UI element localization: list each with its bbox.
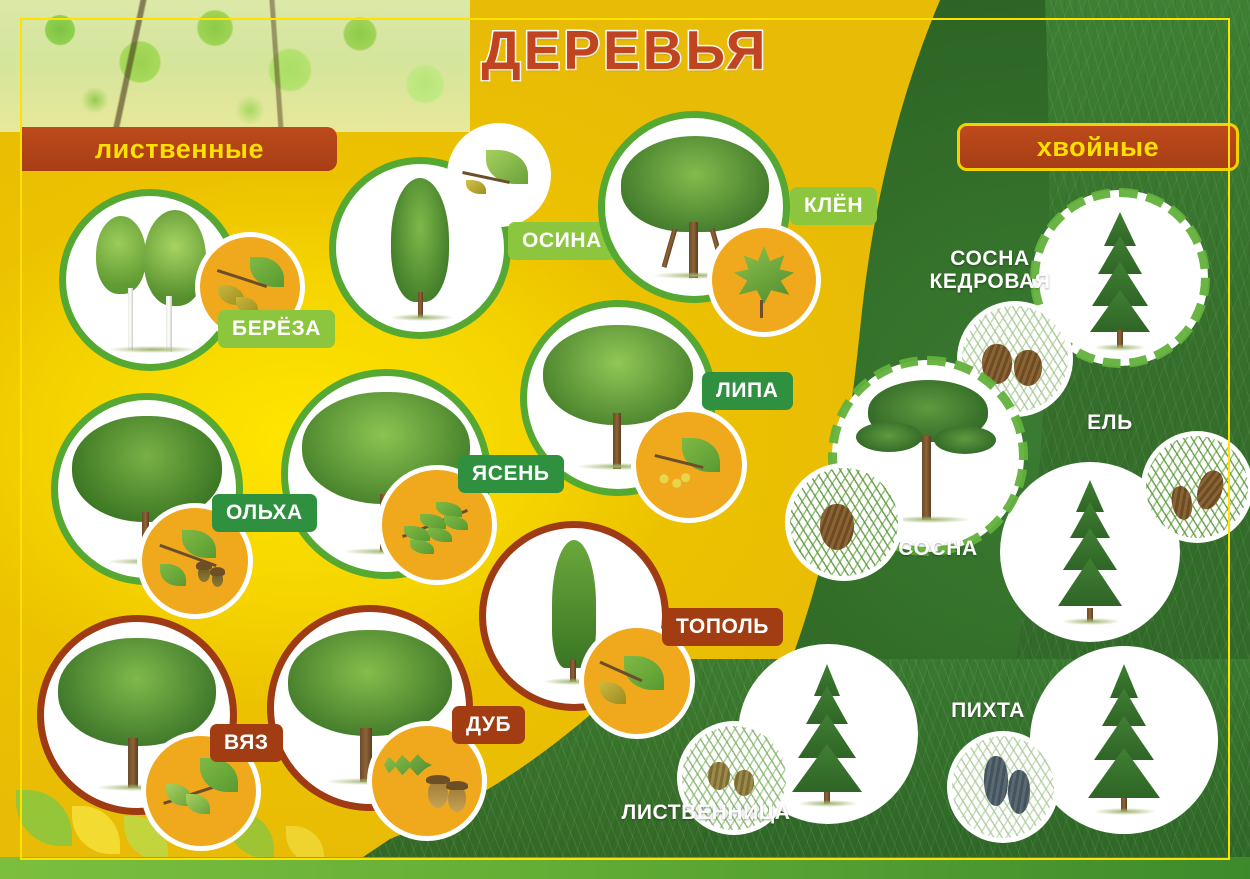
fir-illustration: [1036, 652, 1212, 828]
tree-label-cedar-pine[interactable]: СОСНА КЕДРОВАЯ: [910, 248, 1070, 293]
detail-photo-maple[interactable]: [712, 228, 816, 332]
tree-label-cedar-pine-line1: СОСНА: [950, 248, 1029, 271]
tree-photo-fir[interactable]: [1036, 652, 1212, 828]
section-banner-deciduous-label: лиственные: [95, 134, 264, 165]
tree-label-oak[interactable]: ДУБ: [452, 706, 525, 744]
tree-label-birch-text: БЕРЁЗА: [232, 317, 321, 341]
detail-photo-spruce[interactable]: [1146, 436, 1248, 538]
tree-label-larch-text: ЛИСТВЕННИЦА: [621, 802, 790, 825]
tree-label-fir[interactable]: ПИХТА: [918, 700, 1058, 723]
detail-photo-linden[interactable]: [636, 412, 742, 518]
section-banner-conifer: хвойные: [957, 123, 1239, 171]
tree-label-pine-text: СОСНА: [898, 538, 977, 561]
tree-label-fir-text: ПИХТА: [951, 700, 1025, 723]
tree-label-maple-text: КЛЁН: [804, 194, 863, 218]
tree-label-ash-text: ЯСЕНЬ: [472, 462, 550, 486]
tree-label-oak-text: ДУБ: [466, 713, 511, 737]
tree-label-linden-text: ЛИПА: [716, 379, 779, 403]
detail-photo-fir[interactable]: [952, 736, 1054, 838]
bottom-green-band: [0, 857, 1250, 879]
tree-label-spruce[interactable]: ЕЛЬ: [1060, 412, 1160, 435]
tree-label-larch[interactable]: ЛИСТВЕННИЦА: [600, 802, 812, 825]
tree-label-poplar[interactable]: ТОПОЛЬ: [662, 608, 783, 646]
tree-label-alder[interactable]: ОЛЬХА: [212, 494, 317, 532]
tree-label-spruce-text: ЕЛЬ: [1087, 412, 1133, 435]
tree-label-poplar-text: ТОПОЛЬ: [676, 615, 769, 639]
detail-photo-aspen[interactable]: [452, 128, 546, 222]
tree-label-aspen-text: ОСИНА: [522, 229, 602, 253]
tree-label-linden[interactable]: ЛИПА: [702, 372, 793, 410]
tree-label-aspen[interactable]: ОСИНА: [508, 222, 616, 260]
tree-poster: ДЕРЕВЬЯ лиственные хвойные БЕРЁЗА: [0, 0, 1250, 879]
tree-label-maple[interactable]: КЛЁН: [790, 187, 877, 225]
tree-label-pine[interactable]: СОСНА: [868, 538, 1008, 561]
tree-label-elm-text: ВЯЗ: [224, 731, 269, 755]
page-title: ДЕРЕВЬЯ: [0, 18, 1250, 82]
tree-label-cedar-pine-line2: КЕДРОВАЯ: [929, 271, 1050, 294]
tree-label-elm[interactable]: ВЯЗ: [210, 724, 283, 762]
tree-label-birch[interactable]: БЕРЁЗА: [218, 310, 335, 348]
section-banner-conifer-label: хвойные: [1037, 132, 1159, 163]
tree-label-ash[interactable]: ЯСЕНЬ: [458, 455, 564, 493]
section-banner-deciduous: лиственные: [22, 127, 337, 171]
tree-label-alder-text: ОЛЬХА: [226, 501, 303, 525]
